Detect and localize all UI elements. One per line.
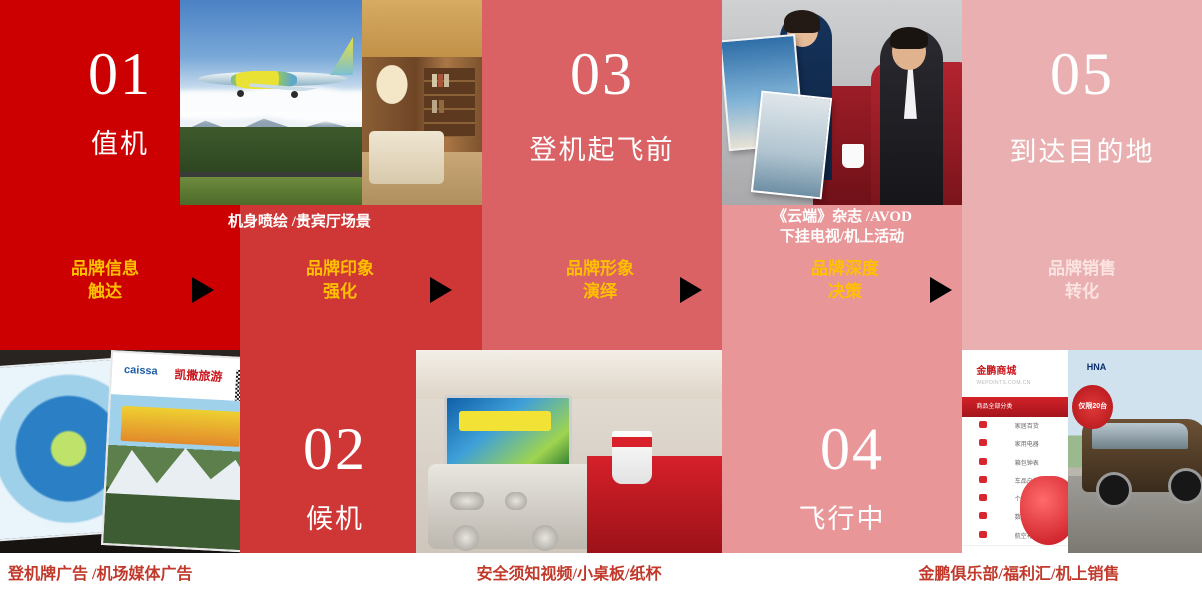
infographic-canvas: caissa 凯撒旅游 金鹏商城 WEPOINTS.COM.CN 商品全部分类 … <box>0 0 1202 593</box>
flow-arrow-icon-4 <box>930 277 952 303</box>
media-caption-col4-line2: 下挂电视/机上活动 <box>722 228 962 247</box>
mall-category-1: 家用电器 <box>1015 439 1039 448</box>
stage-name-02: 候机 <box>255 497 415 536</box>
stage-number-02: 02 <box>255 415 415 484</box>
badge-line-2: 20台 <box>1092 403 1107 410</box>
footer-caption-1: 登机牌广告 /机场媒体广告 <box>0 560 256 584</box>
goal-label-04: 品牌深度 决策 <box>770 258 920 304</box>
mall-category-2: 箱包钟表 <box>1015 458 1039 467</box>
caissa-logo: caissa <box>123 364 157 378</box>
photo-jinpeng-mall: 金鹏商城 WEPOINTS.COM.CN 商品全部分类 家居百货 家用电器 箱包… <box>962 350 1202 553</box>
stage-number-03: 03 <box>522 40 682 109</box>
photo-airport-ads: caissa 凯撒旅游 <box>0 350 240 553</box>
photo-plane-livery <box>180 0 362 205</box>
goal-label-03: 品牌形象 演绎 <box>525 258 675 304</box>
media-caption-col2: 机身喷绘 /贵宾厅场景 <box>228 213 528 232</box>
footer-caption-2: 安全须知视频/小桌板/纸杯 <box>416 560 722 584</box>
photo-vip-lounge <box>362 0 482 205</box>
stage-name-04: 飞行中 <box>762 497 922 536</box>
goal-02-line2: 强化 <box>323 282 357 301</box>
badge-line-1: 仅限 <box>1078 403 1092 410</box>
footer-caption-3: 金鹏俱乐部/福利汇/机上销售 <box>866 560 1172 584</box>
limited-offer-badge: 仅限 20台 <box>1072 385 1113 430</box>
jinpeng-brand-label: 金鹏商城 <box>976 362 1016 377</box>
goal-04-line2: 决策 <box>828 282 862 301</box>
goal-03-line2: 演绎 <box>583 282 617 301</box>
jinpeng-domain-label: WEPOINTS.COM.CN <box>976 380 1030 386</box>
goal-02-line1: 品牌印象 <box>306 259 374 278</box>
goal-05-line1: 品牌销售 <box>1048 259 1116 278</box>
goal-01-line2: 触达 <box>88 282 122 301</box>
mall-category-0: 家居百货 <box>1015 421 1039 430</box>
photo-cabin-service <box>722 0 962 205</box>
goal-03-line1: 品牌形象 <box>566 259 634 278</box>
stage-number-04: 04 <box>772 415 932 484</box>
stage-number-05: 05 <box>1002 40 1162 109</box>
goal-01-line1: 品牌信息 <box>71 259 139 278</box>
qr-code-icon <box>234 370 240 401</box>
mall-nav-label: 商品全部分类 <box>976 401 1012 410</box>
media-caption-col4-line1: 《云端》杂志 /AVOD <box>722 208 962 227</box>
stage-name-01: 值机 <box>40 122 200 161</box>
flow-arrow-icon-3 <box>680 277 702 303</box>
flow-arrow-icon-1 <box>192 277 214 303</box>
caissa-logo-cn: 凯撒旅游 <box>174 365 223 384</box>
hna-logo: HNA <box>1087 362 1107 372</box>
stage-number-01: 01 <box>40 40 200 109</box>
goal-label-05: 品牌销售 转化 <box>1007 258 1157 304</box>
goal-label-01: 品牌信息 触达 <box>30 258 180 304</box>
goal-04-line1: 品牌深度 <box>811 259 879 278</box>
goal-label-02: 品牌印象 强化 <box>265 258 415 304</box>
stage-name-03: 登机起飞前 <box>482 128 722 167</box>
goal-05-line2: 转化 <box>1065 282 1099 301</box>
photo-safety-tray <box>416 350 722 553</box>
stage-name-05: 到达目的地 <box>962 130 1202 169</box>
flow-arrow-icon-2 <box>430 277 452 303</box>
